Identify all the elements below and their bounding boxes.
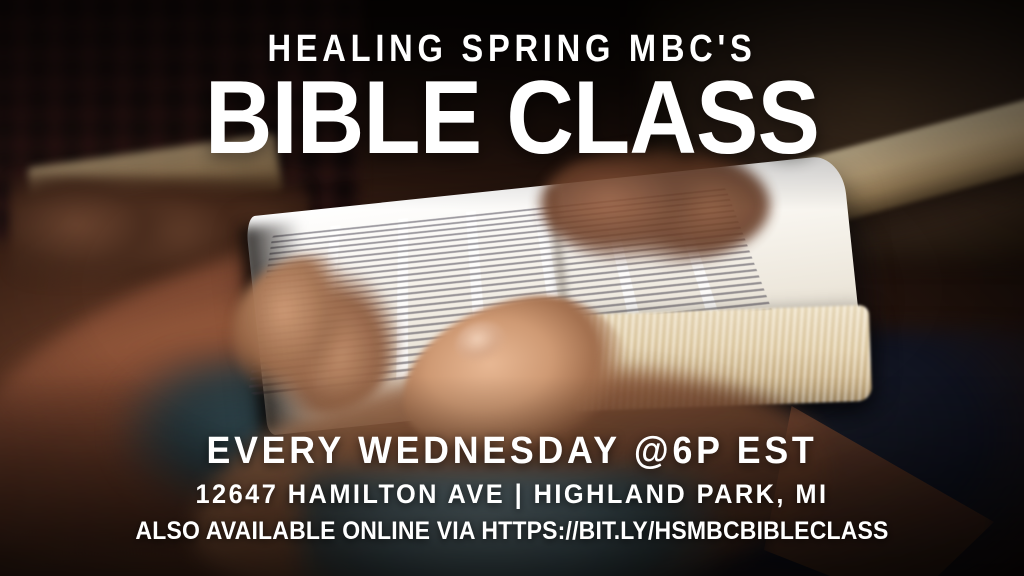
online-link-line: ALSO AVAILABLE ONLINE VIA HTTPS://BIT.LY… (41, 519, 983, 544)
flyer-text-layer: HEALING SPRING MBC'S BIBLE CLASS EVERY W… (0, 0, 1024, 576)
address-line: 12647 HAMILTON AVE | HIGHLAND PARK, MI (31, 481, 994, 508)
flyer-headline: BIBLE CLASS (51, 66, 973, 170)
schedule-line: EVERY WEDNESDAY @6P EST (31, 432, 994, 470)
bible-class-flyer: HEALING SPRING MBC'S BIBLE CLASS EVERY W… (0, 0, 1024, 576)
